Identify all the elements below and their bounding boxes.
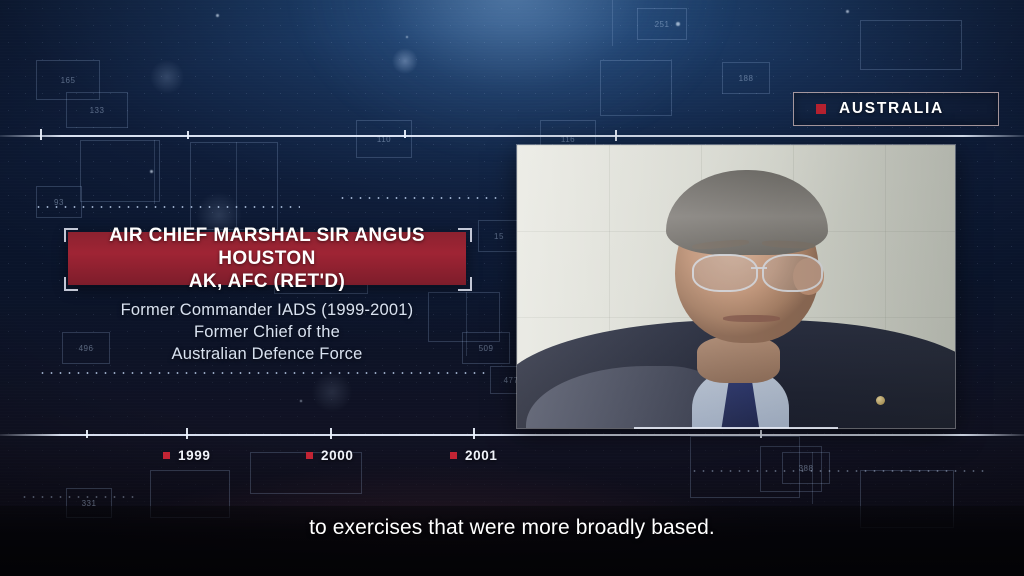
lens-bokeh: [312, 372, 352, 412]
country-badge-label: AUSTRALIA: [839, 100, 944, 118]
speaker-name-line2: AK, AFC (RET'D): [189, 271, 346, 292]
timeline-marker-2000[interactable]: 2000: [306, 448, 353, 463]
video-underline: [634, 427, 838, 429]
speaker-name-bar: AIR CHIEF MARSHAL SIR ANGUS HOUSTON AK, …: [68, 232, 466, 285]
subtitle-text: to exercises that were more broadly base…: [0, 516, 1024, 540]
speaker-name-line1: AIR CHIEF MARSHAL SIR ANGUS HOUSTON: [109, 225, 425, 269]
rule-tick: [86, 430, 88, 438]
hud-dot-row: [338, 197, 504, 199]
rule-tick: [404, 130, 406, 138]
country-badge[interactable]: AUSTRALIA: [793, 92, 999, 126]
hud-dot-row: [34, 206, 300, 208]
dust-speck: [300, 400, 302, 402]
rule-tick: [615, 130, 617, 141]
broadcast-frame: 1651332511881101169315496509477388331 AU…: [0, 0, 1024, 576]
timeline-tick-1999: [186, 428, 188, 439]
hud-dot-row: [20, 496, 140, 498]
speaker-role-line1: Former Commander IADS (1999-2001): [57, 299, 477, 321]
speaker-video[interactable]: [517, 145, 955, 428]
hud-guide-line: [154, 140, 155, 204]
red-square-icon: [163, 452, 170, 459]
speaker-name-text: AIR CHIEF MARSHAL SIR ANGUS HOUSTON AK, …: [68, 224, 466, 293]
timeline-year-label: 2001: [465, 448, 497, 463]
timeline-rule-top: [0, 135, 1024, 137]
corner-bracket-icon: [64, 277, 78, 291]
hud-guide-line: [236, 142, 237, 228]
rule-tick: [760, 430, 762, 438]
red-square-icon: [450, 452, 457, 459]
corner-bracket-icon: [64, 228, 78, 242]
rule-tick: [187, 131, 189, 139]
corner-bracket-icon: [458, 228, 472, 242]
dust-speck: [406, 36, 408, 38]
lens-bokeh: [392, 48, 418, 74]
hud-dot-row: [38, 372, 486, 374]
hud-guide-line: [612, 0, 613, 46]
speaker-role-line2: Former Chief of the: [57, 321, 477, 343]
video-shading-overlay: [517, 145, 955, 428]
speaker-role-line3: Australian Defence Force: [57, 343, 477, 365]
lens-bokeh: [150, 60, 184, 94]
dust-speck: [216, 14, 219, 17]
corner-bracket-icon: [458, 277, 472, 291]
timeline-tick-2000: [330, 428, 332, 439]
timeline-tick-2001: [473, 428, 475, 439]
red-square-icon: [306, 452, 313, 459]
dust-speck: [846, 10, 849, 13]
timeline-marker-2001[interactable]: 2001: [450, 448, 497, 463]
dust-speck: [150, 170, 153, 173]
timeline-marker-1999[interactable]: 1999: [163, 448, 210, 463]
timeline-rule-bottom: [0, 434, 1024, 436]
rule-tick: [40, 129, 42, 140]
hud-guide-line: [812, 452, 813, 504]
red-square-icon: [816, 104, 826, 114]
timeline-year-label: 2000: [321, 448, 353, 463]
dust-speck: [676, 22, 680, 26]
hud-dot-row: [690, 470, 990, 472]
speaker-role-block: Former Commander IADS (1999-2001) Former…: [57, 299, 477, 365]
timeline-year-label: 1999: [178, 448, 210, 463]
